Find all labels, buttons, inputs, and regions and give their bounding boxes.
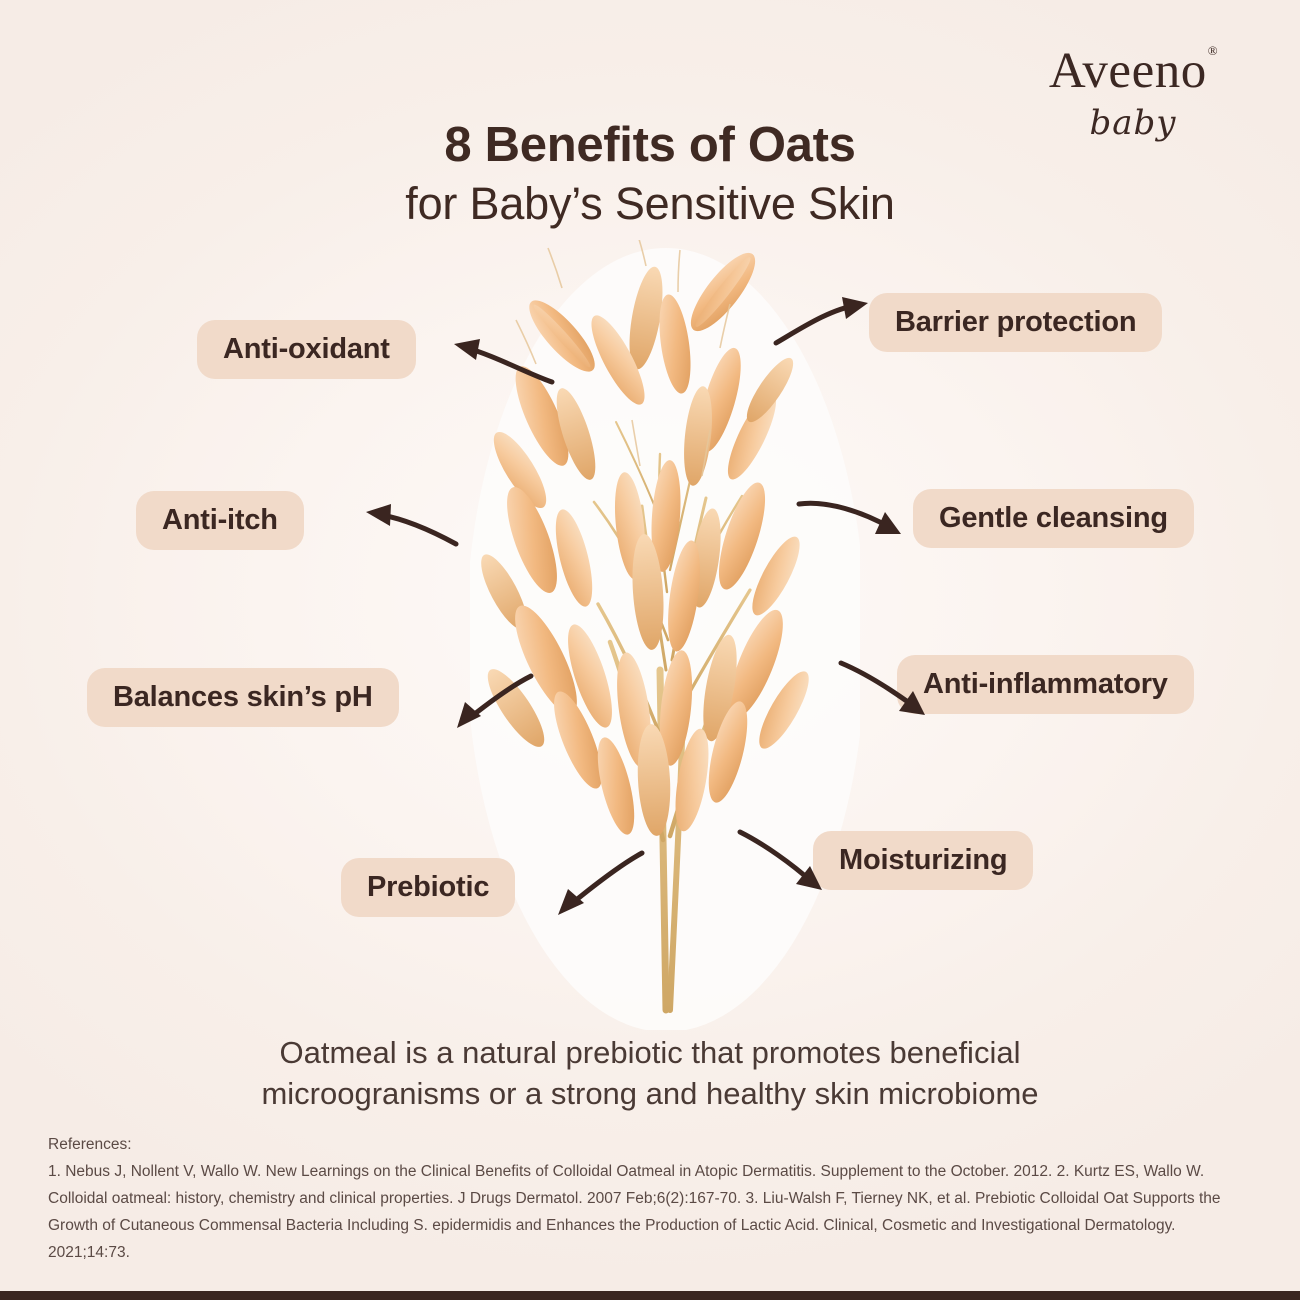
references-block: References: 1. Nebus J, Nollent V, Wallo… <box>48 1132 1258 1267</box>
oat-sprig-illustration <box>470 240 860 1030</box>
benefit-label: Anti-oxidant <box>223 335 390 364</box>
benefit-label: Moisturizing <box>839 846 1007 875</box>
brand-wordmark: Aveeno® <box>1049 46 1217 97</box>
page-title: 8 Benefits of Oats <box>0 118 1300 173</box>
benefit-pill-balances-ph[interactable]: Balances skin’s pH <box>87 668 399 727</box>
references-body: 1. Nebus J, Nollent V, Wallo W. New Lear… <box>48 1159 1258 1267</box>
benefit-pill-anti-inflammatory[interactable]: Anti-inflammatory <box>897 655 1194 714</box>
benefit-pill-anti-itch[interactable]: Anti-itch <box>136 491 304 550</box>
brand-name-text: Aveeno <box>1049 43 1207 99</box>
benefit-pill-gentle-cleansing[interactable]: Gentle cleansing <box>913 489 1194 548</box>
benefit-pill-barrier-protection[interactable]: Barrier protection <box>869 293 1162 352</box>
references-heading: References: <box>48 1132 1258 1159</box>
page-subtitle: for Baby’s Sensitive Skin <box>0 177 1300 230</box>
benefit-pill-prebiotic[interactable]: Prebiotic <box>341 858 515 917</box>
caption-line-2: microogranisms or a strong and healthy s… <box>140 1073 1160 1114</box>
page-title-block: 8 Benefits of Oats for Baby’s Sensitive … <box>0 118 1300 230</box>
benefit-label: Balances skin’s pH <box>113 683 373 712</box>
benefit-label: Barrier protection <box>895 308 1136 337</box>
benefit-pill-moisturizing[interactable]: Moisturizing <box>813 831 1033 890</box>
poster-canvas: Aveeno® baby 8 Benefits of Oats for Baby… <box>0 0 1300 1300</box>
benefit-label: Prebiotic <box>367 873 489 902</box>
benefit-label: Gentle cleansing <box>939 504 1168 533</box>
benefit-pill-anti-oxidant[interactable]: Anti-oxidant <box>197 320 416 379</box>
caption-text: Oatmeal is a natural prebiotic that prom… <box>140 1032 1160 1114</box>
benefit-label: Anti-inflammatory <box>923 670 1168 699</box>
arrow-left-icon-anti-itch <box>360 498 460 554</box>
benefit-label: Anti-itch <box>162 506 278 535</box>
caption-line-1: Oatmeal is a natural prebiotic that prom… <box>140 1032 1160 1073</box>
registered-trademark-icon: ® <box>1208 43 1218 58</box>
bottom-rule <box>0 1291 1300 1300</box>
